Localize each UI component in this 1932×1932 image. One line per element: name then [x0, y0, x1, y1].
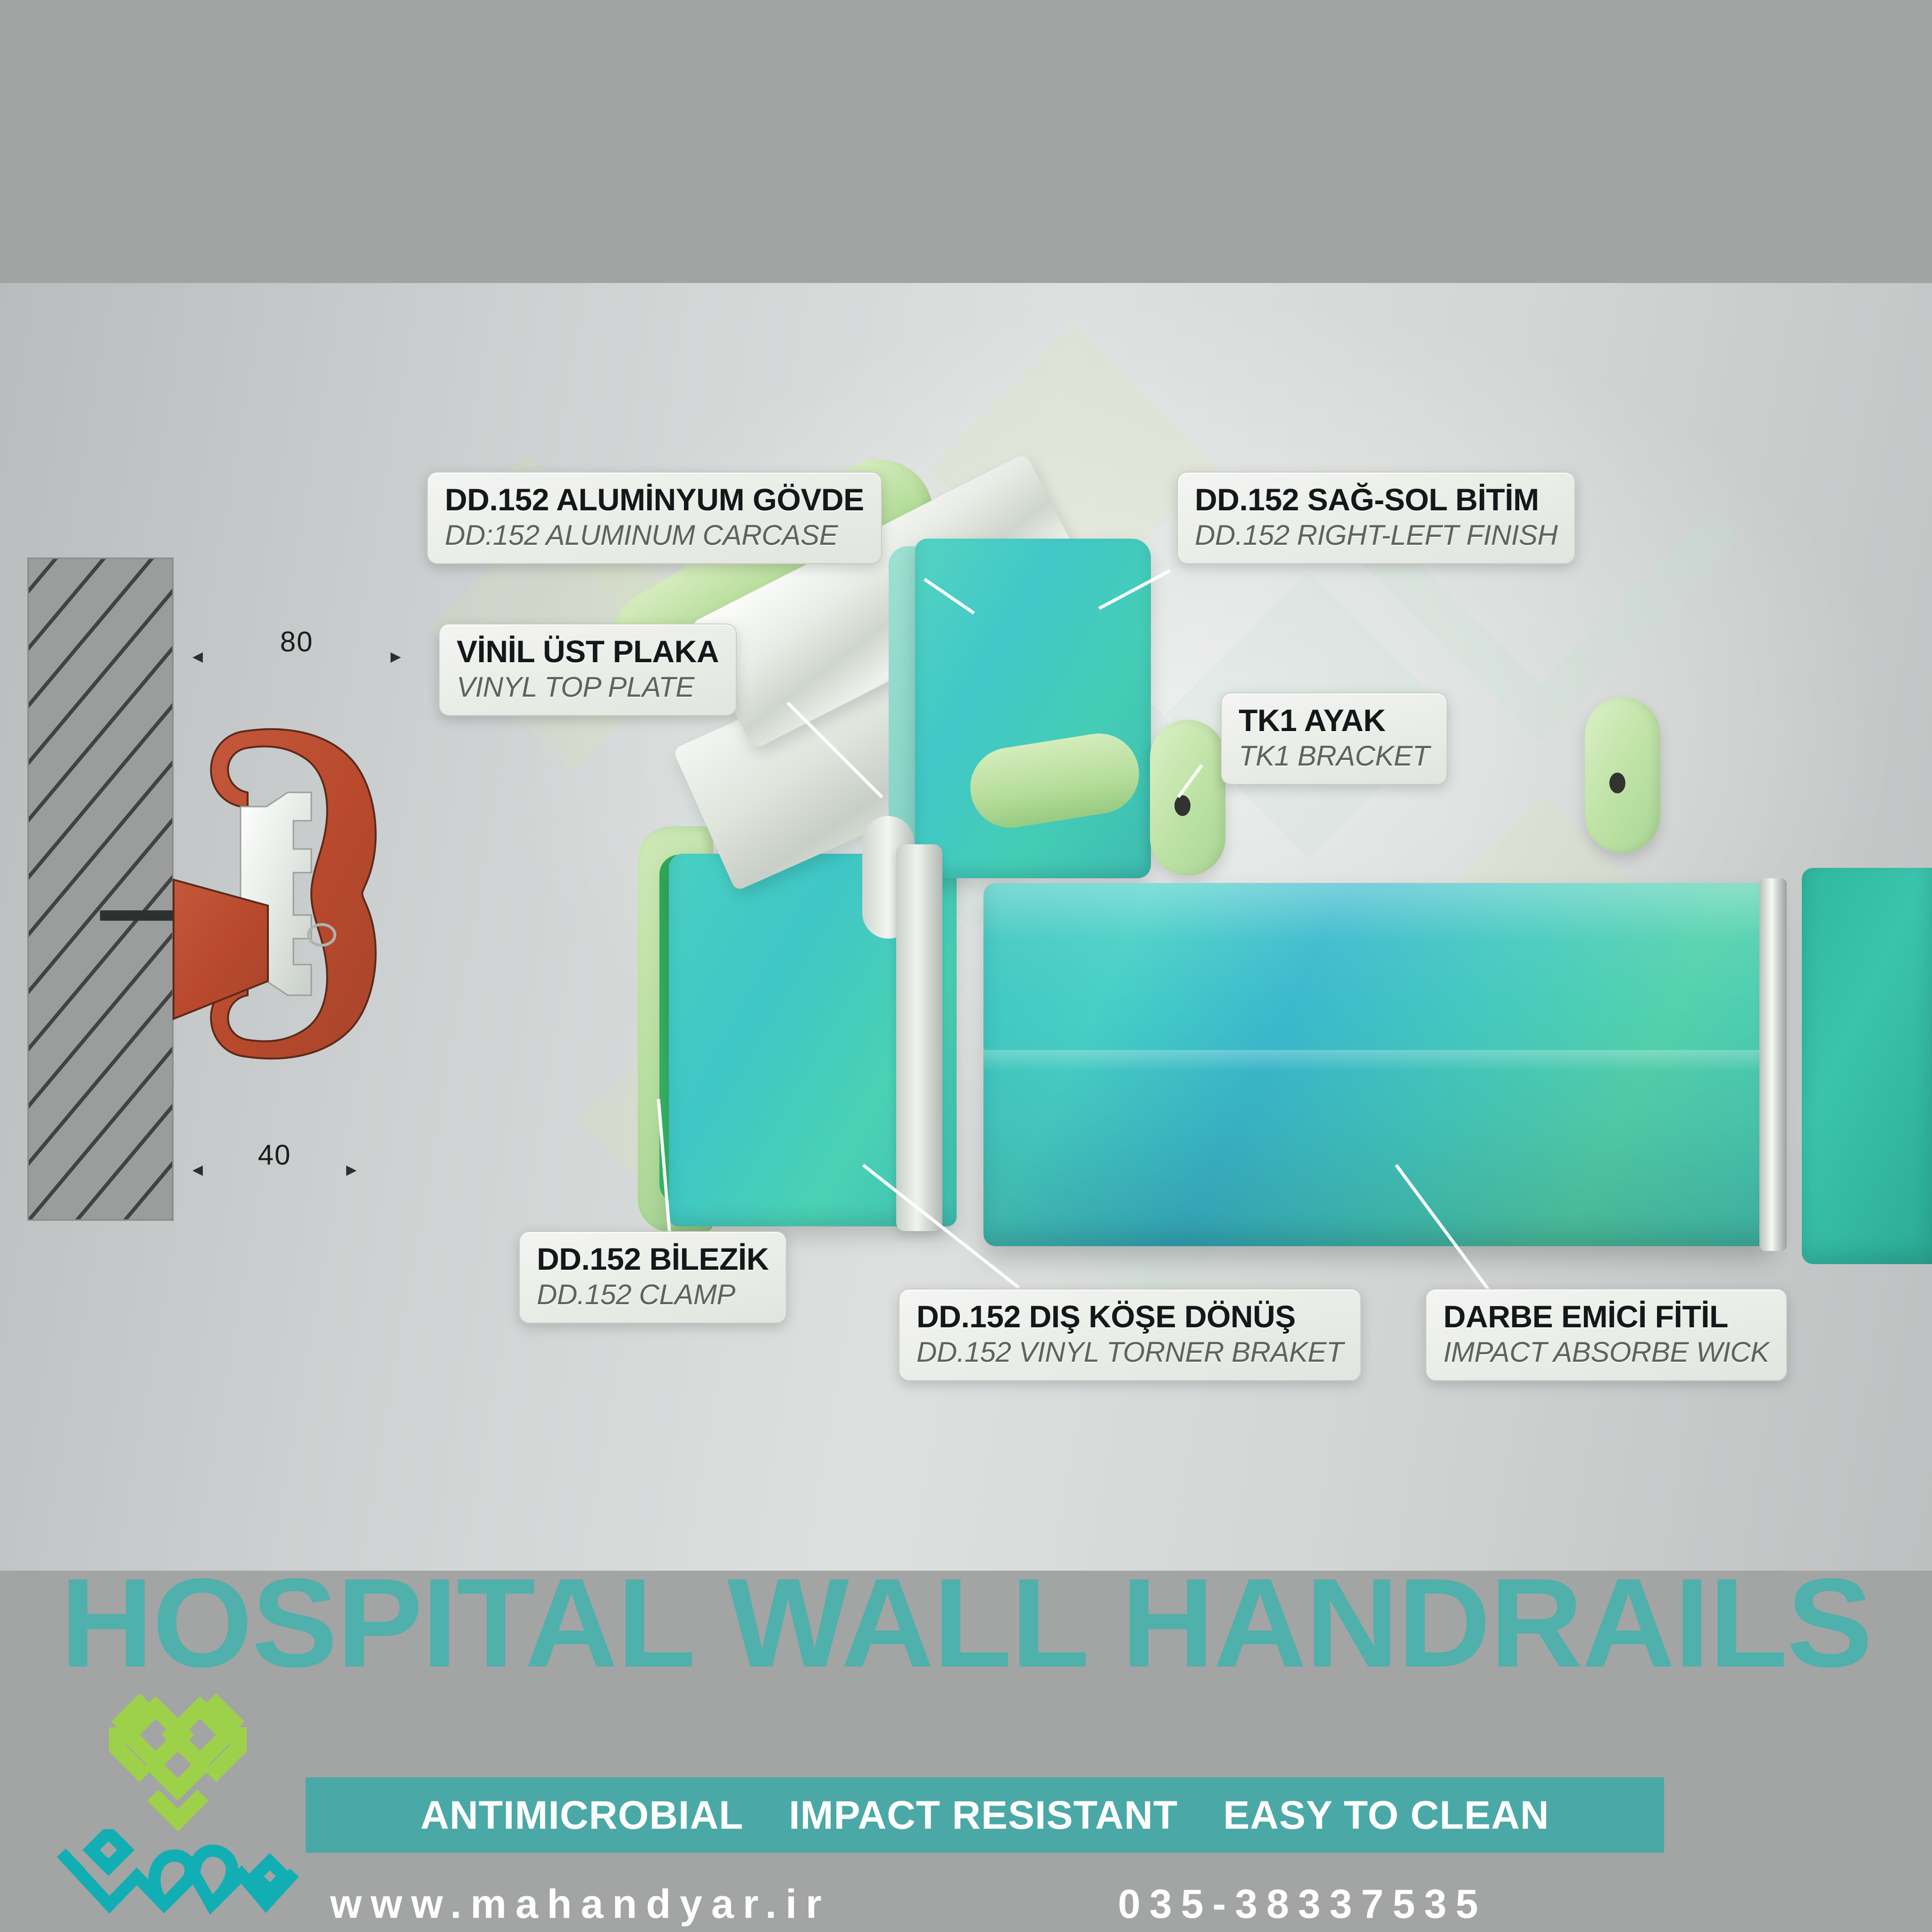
feature-easy-to-clean: EASY TO CLEAN [1223, 1792, 1549, 1838]
phone-number[interactable]: 035-38337535 [1118, 1881, 1487, 1928]
callout-title-en: DD.152 VINYL TORNER BRAKET [916, 1336, 1343, 1368]
callout-title-tr: DD.152 DIŞ KÖŞE DÖNÜŞ [916, 1300, 1343, 1333]
infographic-canvas: 80 40 [0, 0, 1932, 1932]
callout-title-en: DD.152 RIGHT-LEFT FINISH [1195, 519, 1557, 551]
callout-title-en: TK1 BRACKET [1239, 740, 1430, 772]
callout-aluminum-carcase[interactable]: DD.152 ALUMİNYUM GÖVDE DD:152 ALUMINUM C… [427, 472, 882, 564]
persian-wordmark-icon [53, 1829, 303, 1932]
callout-title-tr: DD.152 BİLEZİK [537, 1242, 769, 1276]
callout-vinyl-torner-braket[interactable]: DD.152 DIŞ KÖŞE DÖNÜŞ DD.152 VINYL TORNE… [899, 1289, 1361, 1381]
feature-impact-resistant: IMPACT RESISTANT [789, 1792, 1178, 1838]
callout-title-tr: DD.152 SAĞ-SOL BİTİM [1195, 483, 1557, 516]
callout-impact-absorbe-wick[interactable]: DARBE EMİCİ FİTİL IMPACT ABSORBE WICK [1425, 1289, 1787, 1381]
website-url[interactable]: www.mahandyar.ir [330, 1881, 831, 1928]
callout-right-left-finish[interactable]: DD.152 SAĞ-SOL BİTİM DD.152 RIGHT-LEFT F… [1177, 472, 1575, 564]
page-title: HOSPITAL WALL HANDRAILS [0, 1559, 1932, 1686]
callout-title-tr: DARBE EMİCİ FİTİL [1443, 1300, 1769, 1333]
callout-clamp[interactable]: DD.152 BİLEZİK DD.152 CLAMP [519, 1231, 787, 1324]
features-bar: ANTIMICROBIAL IMPACT RESISTANT EASY TO C… [306, 1777, 1664, 1853]
callout-title-tr: DD.152 ALUMİNYUM GÖVDE [445, 483, 864, 516]
callout-tk1-bracket[interactable]: TK1 AYAK TK1 BRACKET [1221, 692, 1448, 785]
brand-mark-icon [100, 1682, 256, 1845]
callout-title-en: IMPACT ABSORBE WICK [1443, 1336, 1769, 1368]
callout-title-tr: VİNİL ÜST PLAKA [457, 635, 719, 668]
callout-title-tr: TK1 AYAK [1239, 704, 1430, 737]
callout-vinyl-top-plate[interactable]: VİNİL ÜST PLAKA VINYL TOP PLATE [439, 624, 737, 716]
callout-title-en: DD:152 ALUMINUM CARCASE [445, 519, 864, 551]
feature-antimicrobial: ANTIMICROBIAL [420, 1792, 743, 1838]
callout-title-en: DD.152 CLAMP [537, 1279, 769, 1310]
callout-title-en: VINYL TOP PLATE [457, 671, 719, 703]
